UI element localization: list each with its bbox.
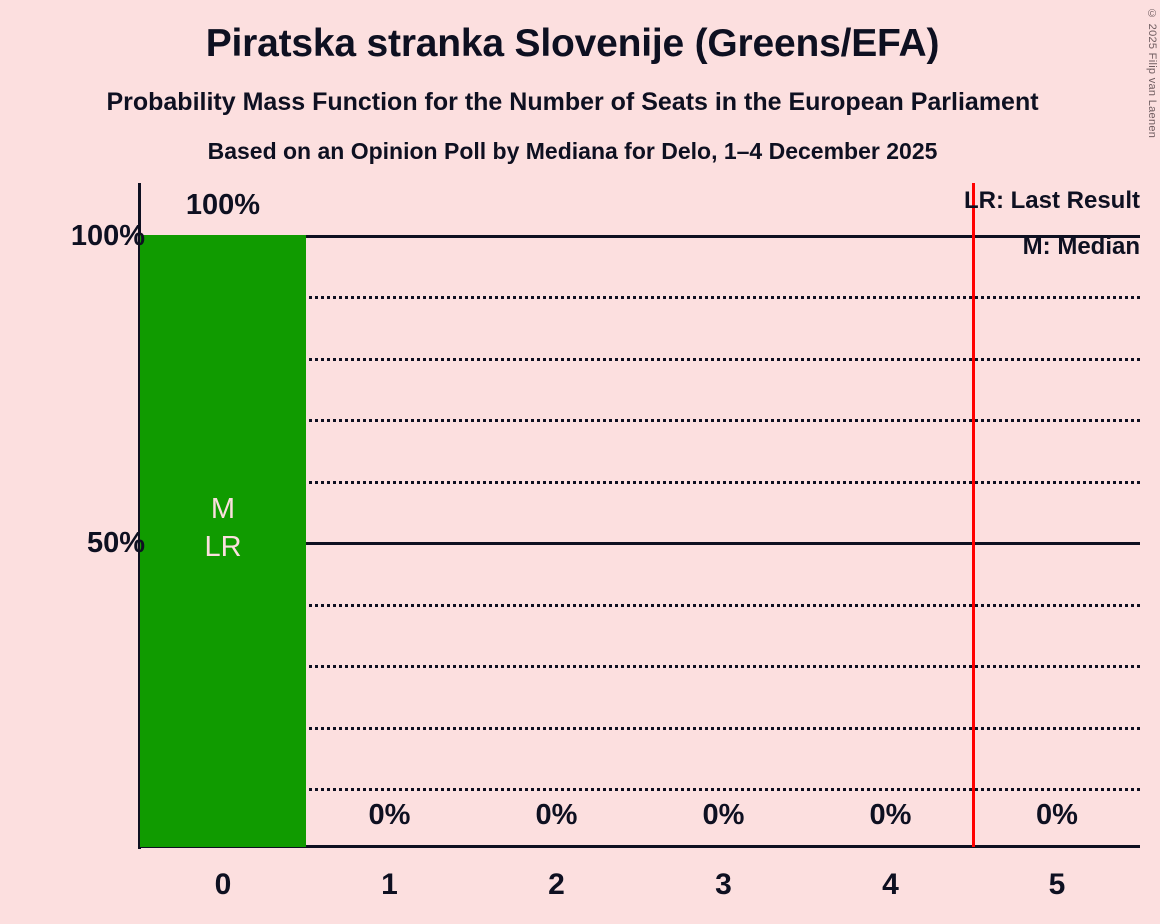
page-title: Piratska stranka Slovenije (Greens/EFA) [0,22,1145,66]
copyright-notice: © 2025 Filip van Laenen [1146,8,1158,138]
bar-value-label-4: 0% [807,799,974,832]
last-result-marker-line [972,183,975,847]
x-tick-label-0: 0 [140,868,306,902]
bar-value-label-5: 0% [974,799,1140,832]
x-tick-label-2: 2 [473,868,640,902]
bar-value-label-3: 0% [640,799,807,832]
bar-value-label-2: 0% [473,799,640,832]
chart-subtitle: Probability Mass Function for the Number… [0,88,1145,117]
x-tick-label-1: 1 [306,868,473,902]
bar-seat-0[interactable]: M LR [140,235,306,847]
bar-marker-median-label: M [140,490,306,528]
y-tick-label-100: 100% [71,220,145,253]
y-tick-label-50: 50% [87,527,145,560]
chart-source-line: Based on an Opinion Poll by Mediana for … [0,138,1145,165]
bar-value-label-0: 100% [140,189,306,222]
bar-value-label-1: 0% [306,799,473,832]
legend-last-result: LR: Last Result [964,187,1140,215]
bar-marker-lastresult-label: LR [140,528,306,566]
plot-area: M LR [140,235,1140,847]
x-tick-label-3: 3 [640,868,807,902]
legend-median: M: Median [1023,233,1140,261]
x-tick-label-5: 5 [974,868,1140,902]
x-tick-label-4: 4 [807,868,974,902]
chart-root: Piratska stranka Slovenije (Greens/EFA) … [0,0,1160,924]
